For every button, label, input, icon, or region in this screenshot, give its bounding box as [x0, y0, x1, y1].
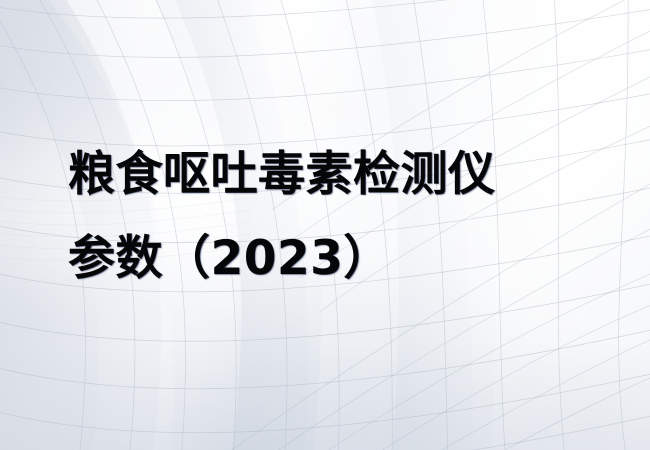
- banner-title-line-2: 参数（2023）: [68, 217, 496, 301]
- banner-title: 粮食呕吐毒素检测仪 参数（2023）: [68, 133, 496, 301]
- title-banner: 粮食呕吐毒素检测仪 参数（2023）: [0, 0, 650, 450]
- banner-title-line-1: 粮食呕吐毒素检测仪: [68, 133, 496, 217]
